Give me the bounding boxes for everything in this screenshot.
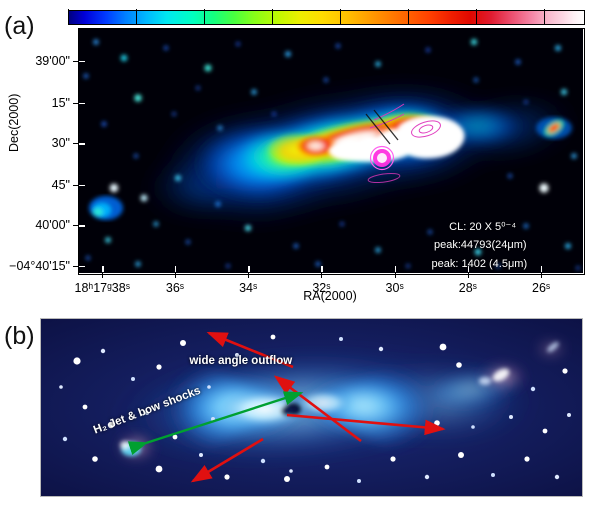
colorbar-gradient	[68, 10, 585, 25]
panel-a-x-tick	[102, 273, 103, 278]
panel-a-x-tick-inner	[395, 266, 396, 272]
panel-a-y-tick	[73, 61, 78, 62]
panel-a-plot	[78, 28, 583, 273]
panel-a-annotation: peak: 1402 (4.5μm)	[432, 258, 528, 270]
blue-blob-southeast	[89, 196, 123, 220]
panel-a-x-tick-inner	[102, 266, 103, 272]
colorbar	[68, 10, 585, 25]
panel-a-annotation: peak:44793(24μm)	[434, 239, 527, 251]
colorbar-tick	[544, 9, 545, 24]
panel-a-y-tick-label: 40'00"	[0, 218, 70, 232]
colorbar-tick	[136, 9, 137, 24]
panel-a-y-tick-label: 45"	[0, 178, 70, 192]
colorbar-tick	[68, 9, 69, 24]
colorbar-tick	[340, 9, 341, 24]
panel-a-x-tick-label: 36ˢ	[166, 281, 184, 295]
panel-a-y-tick-inner	[79, 61, 85, 62]
panel-a-y-tick	[73, 143, 78, 144]
panel-a-x-axis-label: RA(2000)	[303, 289, 357, 303]
panel-a-annotation: CL: 20 X 5⁰⁻⁴	[449, 220, 516, 233]
panel-a-y-tick-inner	[79, 225, 85, 226]
panel-b-label: wide angle outflow	[189, 355, 292, 367]
panel-a-x-tick-inner	[541, 266, 542, 272]
panel-a-x-tick-label: 18ʰ17ᵍ38ˢ	[75, 281, 130, 295]
panel-a-y-tick	[73, 103, 78, 104]
panel-a-y-tick	[73, 225, 78, 226]
panel-a-y-tick	[73, 185, 78, 186]
panel-a-x-tick-inner	[248, 266, 249, 272]
panel-a-x-tick-label: 34ˢ	[239, 281, 257, 295]
panel-a-y-tick	[73, 266, 78, 267]
panel-b-sky-image	[40, 318, 583, 497]
panel-a-x-tick-inner	[321, 266, 322, 272]
panel-a-x-tick	[541, 273, 542, 278]
colorbar-tick	[408, 9, 409, 24]
panel-a-x-tick-label: 26ˢ	[532, 281, 550, 295]
panel-a-y-tick-inner	[79, 266, 85, 267]
panel-a-letter: (a)	[4, 12, 35, 41]
source-marker-magenta	[371, 147, 394, 170]
colorbar-tick	[204, 9, 205, 24]
panel-a-x-tick-label: 30ˢ	[386, 281, 404, 295]
panel-a-x-tick	[395, 273, 396, 278]
panel-a-x-tick	[175, 273, 176, 278]
panel-a-x-tick-inner	[175, 266, 176, 272]
panel-a-y-tick-inner	[79, 143, 85, 144]
panel-a-nebula-svg	[78, 28, 583, 273]
panel-a-y-tick-label: −04°40'15"	[0, 259, 70, 273]
panel-a-x-tick	[248, 273, 249, 278]
panel-b-letter: (b)	[4, 322, 35, 351]
panel-b-nebula-svg	[41, 319, 583, 497]
panel-a-x-tick	[321, 273, 322, 278]
panel-a-x-tick-label: 28ˢ	[459, 281, 477, 295]
panel-a-y-axis-label: Dec(2000)	[7, 94, 21, 152]
colorbar-tick	[476, 9, 477, 24]
panel-a-x-tick	[468, 273, 469, 278]
panel-a-y-tick-inner	[79, 185, 85, 186]
panel-a-sky-image	[78, 28, 583, 273]
colorbar-tick	[272, 9, 273, 24]
panel-a-y-tick-label: 39'00"	[0, 54, 70, 68]
panel-a-y-tick-inner	[79, 103, 85, 104]
